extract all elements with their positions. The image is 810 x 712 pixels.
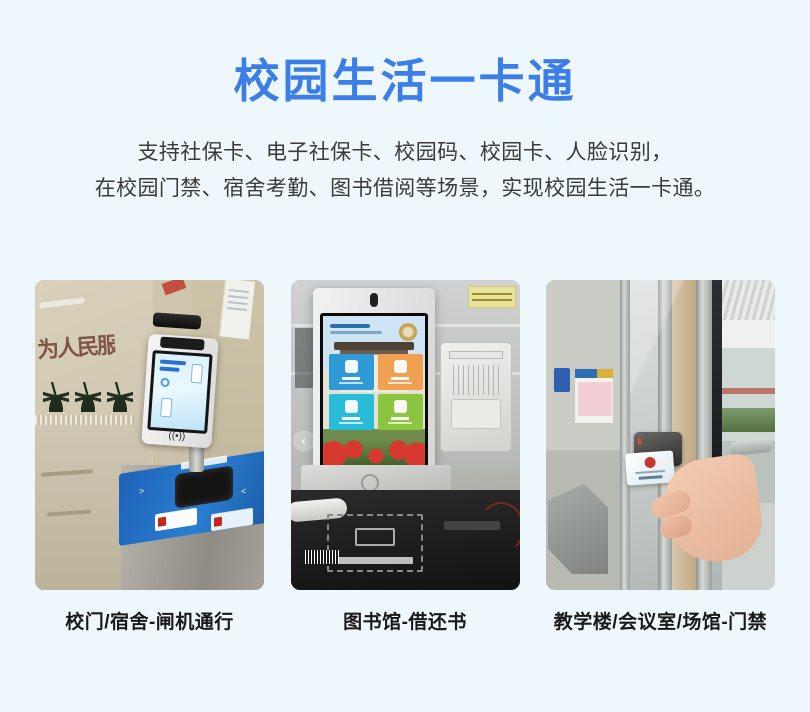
card-tap-pad-icon (451, 399, 501, 429)
face-recognition-terminal: ((•)) (141, 334, 219, 449)
book-placement-area (327, 514, 423, 572)
caption-library: 图书馆-借还书 (291, 607, 520, 634)
phone-icon (191, 364, 203, 384)
social-security-card (625, 450, 675, 485)
door-frame (620, 280, 630, 590)
renew-icon (394, 400, 407, 413)
photo-gate-turnstile: 为人民服务 > < (35, 280, 264, 590)
school-emblem-icon (399, 323, 417, 341)
status-led-icon (638, 438, 641, 445)
ceiling-slats (722, 280, 775, 320)
phone-icon (160, 398, 172, 418)
screen-background-flowers (323, 439, 425, 465)
scene-card-row: 为人民服务 > < (35, 280, 775, 634)
caption-access: 教学楼/会议室/场馆-门禁 (546, 607, 775, 634)
plant-icon (107, 382, 133, 412)
barcode-icon (305, 550, 339, 564)
screen-subtitle-line (330, 331, 382, 334)
hedge-row (722, 408, 775, 432)
wall-calligraphy-text: 为人民服务 (36, 327, 116, 366)
promo-page: 校园生活一卡通 支持社保卡、电子社保卡、校园码、校园卡、人脸识别， 在校园门禁、… (0, 0, 810, 712)
kiosk-screen (320, 313, 428, 468)
book-outline-icon (355, 528, 395, 546)
tile-return[interactable] (378, 354, 423, 390)
self-service-kiosk (313, 288, 435, 478)
camera-bar-icon (153, 312, 202, 329)
arrow-left-icon: < (241, 486, 246, 497)
photo-door-access (546, 280, 775, 590)
wall-notice-paper (219, 280, 255, 339)
page-header: 校园生活一卡通 支持社保卡、电子社保卡、校园码、校园卡、人脸识别， 在校园门禁、… (0, 0, 810, 207)
chevron-left-icon: ‹ (293, 430, 315, 452)
red-cable (478, 502, 520, 554)
kiosk-tile-grid (329, 354, 423, 430)
plant-icon (75, 382, 101, 412)
scene-card-access[interactable]: 教学楼/会议室/场馆-门禁 (546, 280, 775, 634)
caption-gate: 校门/宿舍-闸机通行 (35, 607, 264, 634)
plant-icon (43, 382, 69, 412)
subtitle-line-1: 支持社保卡、电子社保卡、校园码、校园卡、人脸识别， (0, 135, 810, 171)
wall-notice-board (574, 368, 614, 424)
kiosk-camera-icon (370, 293, 378, 307)
placement-area-label (333, 557, 413, 564)
wall-instruction-panel (440, 342, 512, 452)
tile-borrow[interactable] (329, 354, 374, 390)
scene-card-library[interactable]: ‹ (291, 280, 520, 634)
tile-renew[interactable] (378, 394, 423, 430)
return-icon (394, 360, 407, 373)
distant-red-building (722, 388, 775, 394)
wall-sign-icon (554, 368, 570, 392)
screen-title-line (160, 360, 186, 366)
subtitle-line-2: 在校园门禁、宿舍考勤、图书借阅等场景，实现校园生活一卡通。 (0, 171, 810, 207)
page-subtitle: 支持社保卡、电子社保卡、校园码、校园卡、人脸识别， 在校园门禁、宿舍考勤、图书借… (0, 135, 810, 207)
nfc-reader-icon: ((•)) (161, 430, 192, 443)
red-banner-strip (162, 280, 187, 295)
screen-title-line (330, 324, 370, 328)
page-title: 校园生活一卡通 (0, 54, 810, 109)
book-icon (345, 360, 358, 373)
terminal-screen (147, 350, 212, 434)
tile-query[interactable] (329, 394, 374, 430)
wall-poster (468, 286, 516, 308)
nfc-wave-icon (160, 378, 170, 388)
national-emblem-icon (644, 457, 656, 469)
screen-subtitle-line (159, 367, 179, 372)
photo-library-kiosk: ‹ (291, 280, 520, 590)
terminal-camera-icon (160, 337, 205, 351)
arrow-right-icon: > (139, 486, 144, 497)
scene-card-gate[interactable]: 为人民服务 > < (35, 280, 264, 634)
search-icon (345, 400, 358, 413)
